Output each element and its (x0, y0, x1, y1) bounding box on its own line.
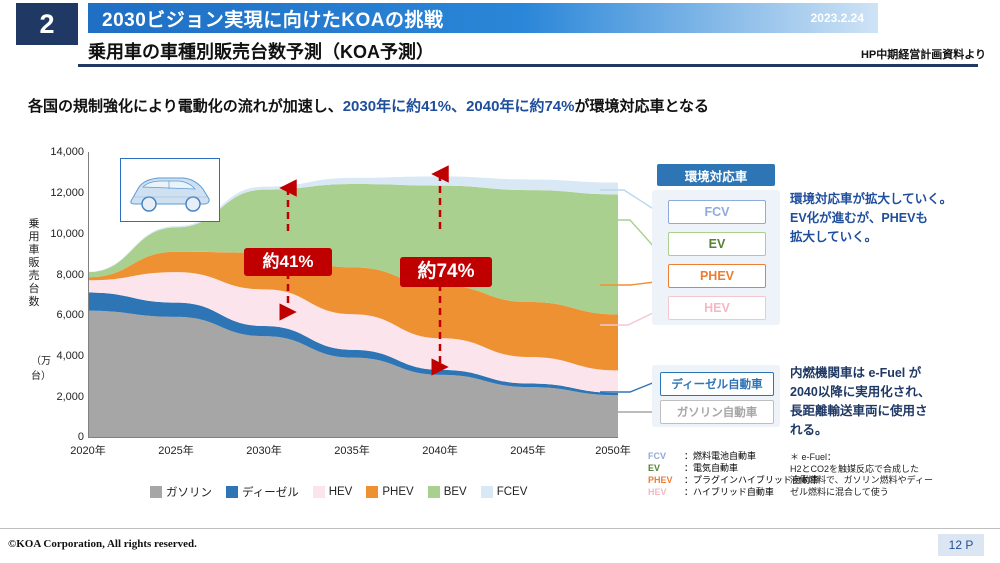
lead-sentence: 各国の規制強化により電動化の流れが加速し、2030年に約41%、2040年に約7… (28, 95, 709, 116)
y-tick-label: 2,000 (40, 391, 84, 403)
efuel-note: ＊ e-Fuel： H2とCO2を触媒反応で合成した 液体燃料で、ガソリン燃料や… (790, 452, 933, 498)
legend-label: HEV (329, 486, 353, 498)
header-underline (78, 64, 978, 67)
eco-car-header: 環境対応車 (657, 164, 775, 186)
abbr-key: HEV (648, 486, 684, 498)
eco-item-phev[interactable]: PHEV (668, 264, 766, 288)
comment-ice-line1: 内燃機関車は e-Fuel が (790, 364, 921, 383)
comment-eco-line3: 拡大していく。 (790, 228, 877, 247)
x-tick-label: 2040年 (412, 442, 468, 458)
efuel-line2: 液体燃料で、ガソリン燃料やディー (790, 475, 933, 487)
comment-ice-line4: れる。 (790, 421, 828, 440)
annotation-arrows (88, 152, 618, 438)
legend-swatch (481, 486, 493, 498)
legend-label: FCEV (497, 486, 528, 498)
eco-item-fcv[interactable]: FCV (668, 200, 766, 224)
header-source-note: HP中期経営計画資料より (861, 46, 986, 62)
legend-swatch (226, 486, 238, 498)
page-number: 12 P (938, 534, 984, 556)
comment-ice-line3: 長距離輸送車両に使用さ (790, 402, 928, 421)
comment-eco-line1: 環境対応車が拡大していく。 (790, 190, 952, 209)
annotation-label-2040: 約74% (400, 257, 492, 287)
y-tick-label: 6,000 (40, 309, 84, 321)
annotation-label-2030: 約41% (244, 248, 332, 276)
y-tick-label: 8,000 (40, 269, 84, 281)
footer-divider (0, 528, 1000, 529)
copyright-text: ©KOA Corporation, All rights reserved. (8, 538, 197, 550)
abbr-key: EV (648, 462, 684, 474)
comment-ice-line2: 2040以降に実用化され、 (790, 383, 930, 402)
abbr-desc: ：電気自動車 (684, 463, 738, 473)
header-subtitle: 乗用車の車種別販売台数予測（KOA予測） (88, 38, 434, 64)
ice-item-gasoline[interactable]: ガソリン自動車 (660, 400, 774, 424)
lead-highlight: 2030年に約41%、2040年に約74% (343, 98, 575, 115)
legend-swatch (366, 486, 378, 498)
y-tick-label: 10,000 (40, 228, 84, 240)
eco-item-hev[interactable]: HEV (668, 296, 766, 320)
legend-label: BEV (444, 486, 467, 498)
lead-part2: が環境対応車となる (575, 98, 710, 115)
efuel-line1: H2とCO2を触媒反応で合成した (790, 464, 933, 476)
legend-swatch (313, 486, 325, 498)
ice-item-diesel[interactable]: ディーゼル自動車 (660, 372, 774, 396)
abbr-desc: ：ハイブリッド自動車 (684, 487, 774, 497)
legend-item-phev: PHEV (366, 486, 413, 498)
x-tick-label: 2020年 (60, 442, 116, 458)
abbr-key: PHEV (648, 474, 684, 486)
efuel-title: ＊ e-Fuel： (790, 452, 933, 464)
legend-item-gasoline: ガソリン (150, 484, 212, 500)
efuel-line3: ゼル燃料に混合して使う (790, 487, 933, 499)
comment-eco-line2: EV化が進むが、PHEVも (790, 209, 928, 228)
y-tick-label: 4,000 (40, 350, 84, 362)
legend-item-bev: BEV (428, 486, 467, 498)
x-tick-label: 2045年 (500, 442, 556, 458)
header-title-bar: 2030ビジョン実現に向けたKOAの挑戦 2023.2.24 (88, 3, 878, 33)
y-tick-label: 12,000 (40, 187, 84, 199)
eco-item-ev[interactable]: EV (668, 232, 766, 256)
lead-part1: 各国の規制強化により電動化の流れが加速し、 (28, 98, 343, 115)
legend-swatch (428, 486, 440, 498)
legend-swatch (150, 486, 162, 498)
abbr-key: FCV (648, 450, 684, 462)
slide-number-badge: 2 (16, 3, 78, 45)
chart-legend: ガソリン ディーゼル HEV PHEV BEV FCEV (150, 483, 620, 501)
legend-item-hev: HEV (313, 486, 353, 498)
header-date: 2023.2.24 (811, 11, 864, 25)
x-tick-label: 2030年 (236, 442, 292, 458)
slide-header: 2 2030ビジョン実現に向けたKOAの挑戦 2023.2.24 乗用車の車種別… (0, 0, 1000, 72)
x-tick-label: 2025年 (148, 442, 204, 458)
header-title: 2030ビジョン実現に向けたKOAの挑戦 (102, 5, 444, 32)
legend-label: ディーゼル (242, 484, 299, 500)
legend-label: ガソリン (166, 484, 212, 500)
abbr-desc: ：燃料電池自動車 (684, 451, 756, 461)
legend-item-fcev: FCEV (481, 486, 528, 498)
legend-label: PHEV (382, 486, 413, 498)
legend-item-diesel: ディーゼル (226, 484, 299, 500)
x-tick-label: 2035年 (324, 442, 380, 458)
y-tick-label: 14,000 (40, 146, 84, 158)
